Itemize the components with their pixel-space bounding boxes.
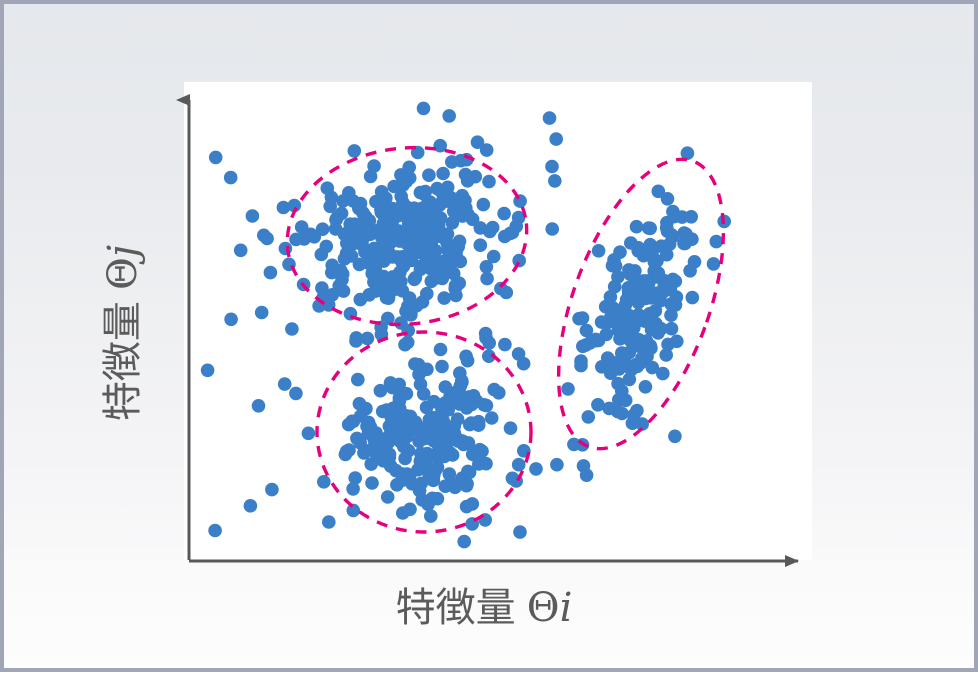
plot-area xyxy=(184,82,812,560)
y-axis-label-text: 特徴量 xyxy=(101,290,145,421)
y-axis-theta-symbol: Θ xyxy=(100,257,146,290)
y-axis-label: 特徴量 Θj xyxy=(90,168,148,498)
x-axis-index-symbol: i xyxy=(560,585,573,631)
x-axis-theta-symbol: Θ xyxy=(527,585,560,631)
x-axis-label: 特徴量 Θi xyxy=(304,575,664,633)
x-axis-label-text: 特徴量 xyxy=(396,586,527,630)
y-axis-index-symbol: j xyxy=(100,245,146,257)
slide-canvas: 特徴量 Θi 特徴量 Θj xyxy=(0,0,978,672)
